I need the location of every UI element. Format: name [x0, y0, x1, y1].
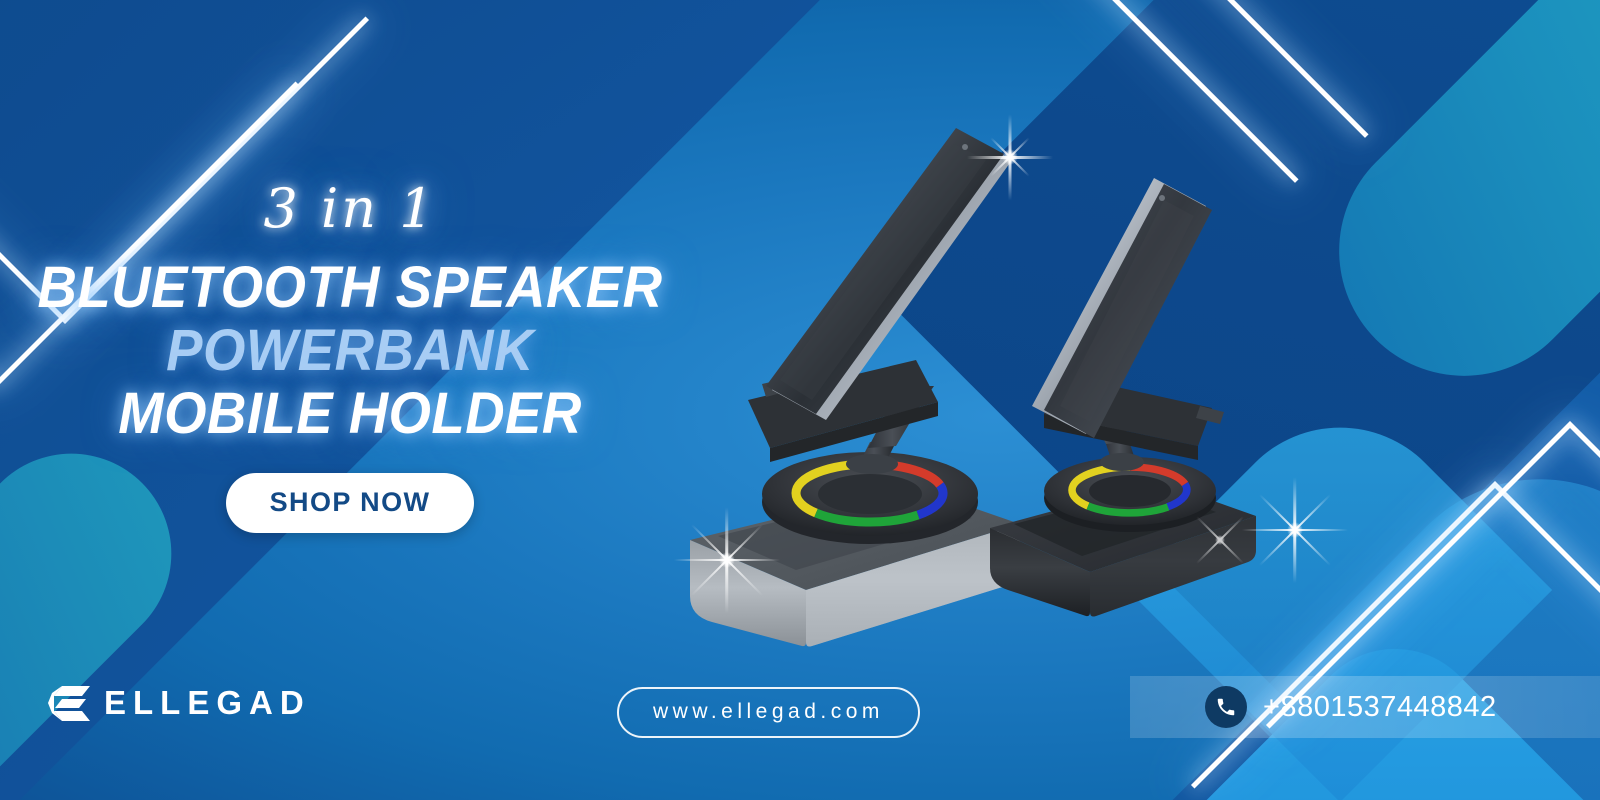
phone-handset-icon	[1205, 686, 1247, 728]
product-unit-left	[690, 128, 1020, 647]
brand-logo[interactable]: ELLEGAD	[46, 680, 311, 726]
headline-line-2: POWERBANK	[21, 321, 679, 380]
phone-contact[interactable]: +8801537448842	[1205, 686, 1497, 728]
headline-line-3: MOBILE HOLDER	[21, 384, 679, 443]
product-unit-right	[990, 178, 1256, 617]
headline-line-1: BLUETOOTH SPEAKER	[21, 258, 679, 317]
ellegad-e-mark-icon	[46, 680, 92, 726]
tagline: 3 in 1	[0, 182, 700, 236]
promo-banner: 3 in 1 BLUETOOTH SPEAKER POWERBANK MOBIL…	[0, 0, 1600, 800]
product-illustration	[620, 50, 1340, 670]
headline-block: 3 in 1 BLUETOOTH SPEAKER POWERBANK MOBIL…	[0, 182, 700, 533]
brand-logo-text: ELLEGAD	[104, 684, 311, 722]
phone-number-text: +8801537448842	[1263, 691, 1497, 724]
shop-now-button[interactable]: SHOP NOW	[226, 473, 475, 533]
product-image	[620, 50, 1340, 670]
website-pill[interactable]: www.ellegad.com	[617, 687, 920, 738]
